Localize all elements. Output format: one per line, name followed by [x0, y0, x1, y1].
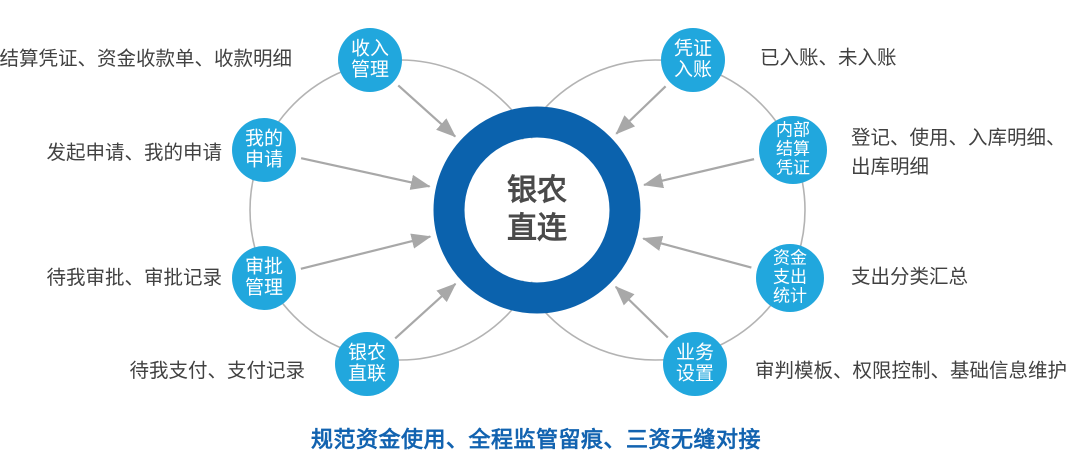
node-expenditure-statistics[interactable]: 资金支出统计: [756, 244, 824, 312]
node-text-approval-management-line2: 管理: [245, 277, 283, 299]
connector-arrow-business-settings: [616, 287, 668, 338]
node-text-income-management-line2: 管理: [351, 59, 389, 81]
node-text-internal-settlement-voucher-line1: 内部: [776, 120, 810, 139]
side-label-voucher-entry: 已入账、未入账: [760, 47, 897, 69]
connector-arrow-voucher-entry: [616, 86, 665, 133]
connector-arrow-internal-settlement-voucher: [644, 159, 754, 185]
node-income-management[interactable]: 收入管理: [338, 28, 402, 92]
connector-arrow-bank-farm-direct: [395, 284, 455, 339]
node-text-income-management-line1: 收入: [351, 38, 389, 60]
connector-arrow-my-application: [301, 158, 429, 186]
node-bank-farm-direct[interactable]: 银农直联: [335, 332, 399, 396]
connector-arrow-income-management: [398, 85, 455, 136]
side-label-bank-farm-direct: 待我支付、支付记录: [129, 360, 305, 382]
hub-label-line2: 直连: [507, 212, 568, 245]
node-text-expenditure-statistics-line3: 统计: [773, 286, 807, 305]
side-label-internal-settlement-voucher-line1: 登记、使用、入库明细、: [851, 127, 1066, 149]
node-text-business-settings-line2: 设置: [676, 363, 714, 385]
node-voucher-entry[interactable]: 凭证入账: [661, 28, 725, 92]
node-business-settings[interactable]: 业务设置: [663, 332, 727, 396]
node-text-bank-farm-direct-line2: 直联: [348, 363, 386, 385]
hub-label-line1: 银农: [507, 174, 567, 207]
side-label-internal-settlement-voucher-line2: 出库明细: [851, 156, 929, 178]
node-text-expenditure-statistics-line1: 资金: [773, 248, 807, 267]
node-internal-settlement-voucher[interactable]: 内部结算凭证: [759, 116, 827, 184]
hub-group: 银农 直连: [449, 122, 625, 298]
connector-arrow-expenditure-statistics: [643, 239, 751, 268]
side-label-income-management: 结算凭证、资金收款单、收款明细: [0, 48, 292, 70]
node-text-expenditure-statistics-line2: 支出: [773, 267, 807, 286]
side-label-approval-management: 待我审批、审批记录: [46, 267, 222, 289]
node-text-internal-settlement-voucher-line3: 凭证: [776, 158, 810, 177]
node-text-bank-farm-direct-line1: 银农: [348, 342, 386, 364]
node-approval-management[interactable]: 审批管理: [232, 246, 296, 310]
side-label-expenditure-statistics: 支出分类汇总: [851, 266, 968, 288]
diagram-canvas: 银农 直连 收入管理我的申请审批管理银农直联凭证入账内部结算凭证资金支出统计业务…: [0, 0, 1072, 471]
side-label-my-application: 发起申请、我的申请: [46, 142, 222, 164]
hub-inner-disc: [465, 138, 609, 282]
diagram-root: 银农 直连 收入管理我的申请审批管理银农直联凭证入账内部结算凭证资金支出统计业务…: [0, 0, 1072, 471]
footer-caption: 规范资金使用、全程监管留痕、三资无缝对接: [311, 427, 761, 452]
node-my-application[interactable]: 我的申请: [232, 118, 296, 182]
node-text-internal-settlement-voucher-line2: 结算: [776, 139, 810, 158]
node-text-voucher-entry-line1: 凭证: [674, 38, 712, 60]
node-text-voucher-entry-line2: 入账: [674, 59, 712, 81]
node-text-my-application-line1: 我的: [245, 128, 283, 150]
connector-arrow-approval-management: [301, 237, 430, 269]
node-text-my-application-line2: 申请: [245, 149, 283, 171]
side-label-business-settings: 审判模板、权限控制、基础信息维护: [755, 360, 1067, 382]
node-text-approval-management-line1: 审批: [245, 256, 283, 278]
node-text-business-settings-line1: 业务: [676, 342, 714, 364]
